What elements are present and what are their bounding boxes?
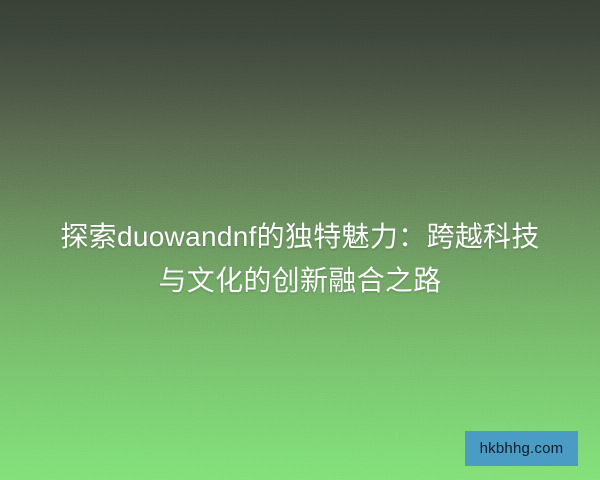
hero-banner: 探索duowandnf的独特魅力：跨越科技 与文化的创新融合之路 hkbhhg.… [0,0,600,480]
watermark-label: hkbhhg.com [480,441,564,456]
page-title: 探索duowandnf的独特魅力：跨越科技 与文化的创新融合之路 [0,215,600,303]
watermark-badge: hkbhhg.com [465,431,578,466]
